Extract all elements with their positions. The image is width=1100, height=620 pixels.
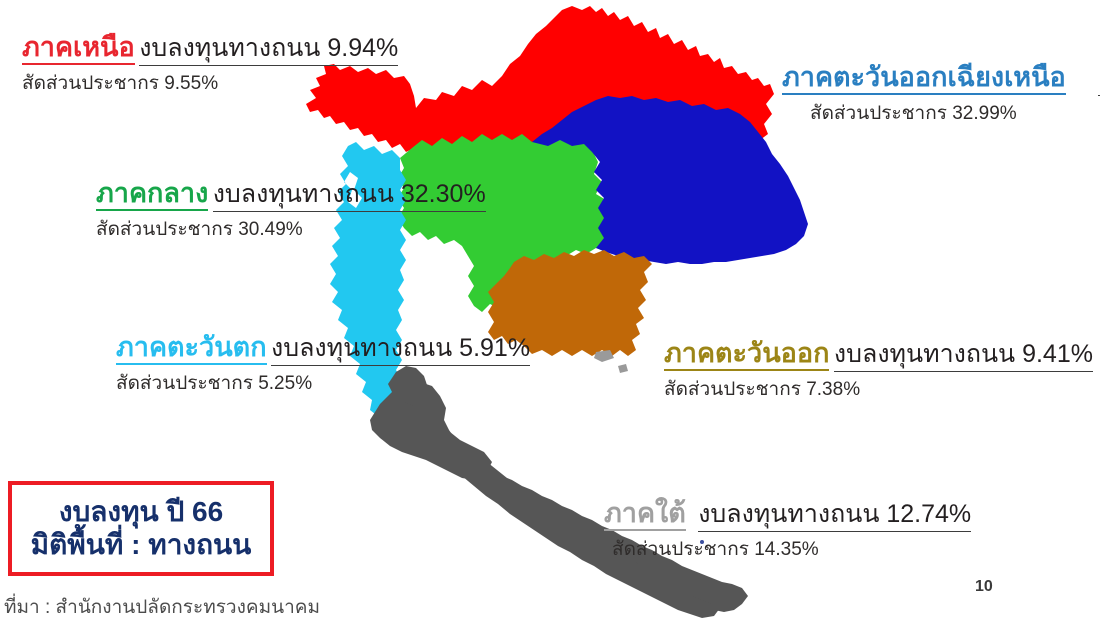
region-population-south: สัดส่วนประชากร 14.35% bbox=[612, 539, 971, 562]
title-callout-box: งบลงทุน ปี 66 มิติพื้นที่ : ทางถนน bbox=[8, 481, 274, 576]
region-name-east: ภาคตะวันออก bbox=[664, 338, 829, 371]
map-lagoon-detail bbox=[362, 486, 378, 498]
region-label-east: ภาคตะวันออก งบลงทุนทางถนน 9.41% สัดส่วนป… bbox=[664, 332, 1093, 401]
region-population-central: สัดส่วนประชากร 30.49% bbox=[96, 219, 486, 242]
blue-speck-artifact bbox=[700, 540, 704, 544]
region-label-south: ภาคใต้ งบลงทุนทางถนน 12.74% สัดส่วนประชา… bbox=[604, 492, 971, 561]
source-note: ที่มา : สำนักงานปลัดกระทรวงคมนาคม bbox=[4, 592, 320, 620]
region-name-northeast: ภาคตะวันออกเฉียงเหนือ bbox=[782, 62, 1066, 95]
slide-canvas: ภาคเหนือ งบลงทุนทางถนน 9.94% สัดส่วนประช… bbox=[0, 0, 1100, 620]
region-name-north: ภาคเหนือ bbox=[22, 32, 135, 65]
region-population-west: สัดส่วนประชากร 5.25% bbox=[116, 373, 530, 396]
title-line-1: งบลงทุน ปี 66 bbox=[59, 496, 223, 528]
region-name-south: ภาคใต้ bbox=[604, 498, 686, 531]
region-population-north: สัดส่วนประชากร 9.55% bbox=[22, 73, 398, 96]
region-name-central: ภาคกลาง bbox=[96, 178, 208, 211]
region-label-northeast: ภาคตะวันออกเฉียงเหนือ งบลงทุนทางถนน 29.7… bbox=[782, 56, 1100, 125]
region-name-west: ภาคตะวันตก bbox=[116, 332, 267, 365]
region-investment-central: งบลงทุนทางถนน 32.30% bbox=[213, 180, 486, 212]
map-island-east-2 bbox=[618, 364, 628, 373]
region-investment-north: งบลงทุนทางถนน 9.94% bbox=[139, 34, 398, 66]
page-number: 10 bbox=[975, 578, 993, 596]
title-line-2: มิติพื้นที่ : ทางถนน bbox=[31, 529, 252, 561]
region-population-east: สัดส่วนประชากร 7.38% bbox=[664, 379, 1093, 402]
map-region-south-upper bbox=[370, 382, 492, 480]
region-investment-east: งบลงทุนทางถนน 9.41% bbox=[834, 340, 1093, 372]
region-label-west: ภาคตะวันตก งบลงทุนทางถนน 5.91% สัดส่วนปร… bbox=[116, 326, 530, 395]
region-label-central: ภาคกลาง งบลงทุนทางถนน 32.30% สัดส่วนประช… bbox=[96, 172, 486, 241]
region-investment-west: งบลงทุนทางถนน 5.91% bbox=[271, 334, 530, 366]
region-population-northeast: สัดส่วนประชากร 32.99% bbox=[810, 103, 1100, 126]
region-investment-south: งบลงทุนทางถนน 12.74% bbox=[698, 500, 971, 532]
region-label-north: ภาคเหนือ งบลงทุนทางถนน 9.94% สัดส่วนประช… bbox=[22, 26, 398, 95]
